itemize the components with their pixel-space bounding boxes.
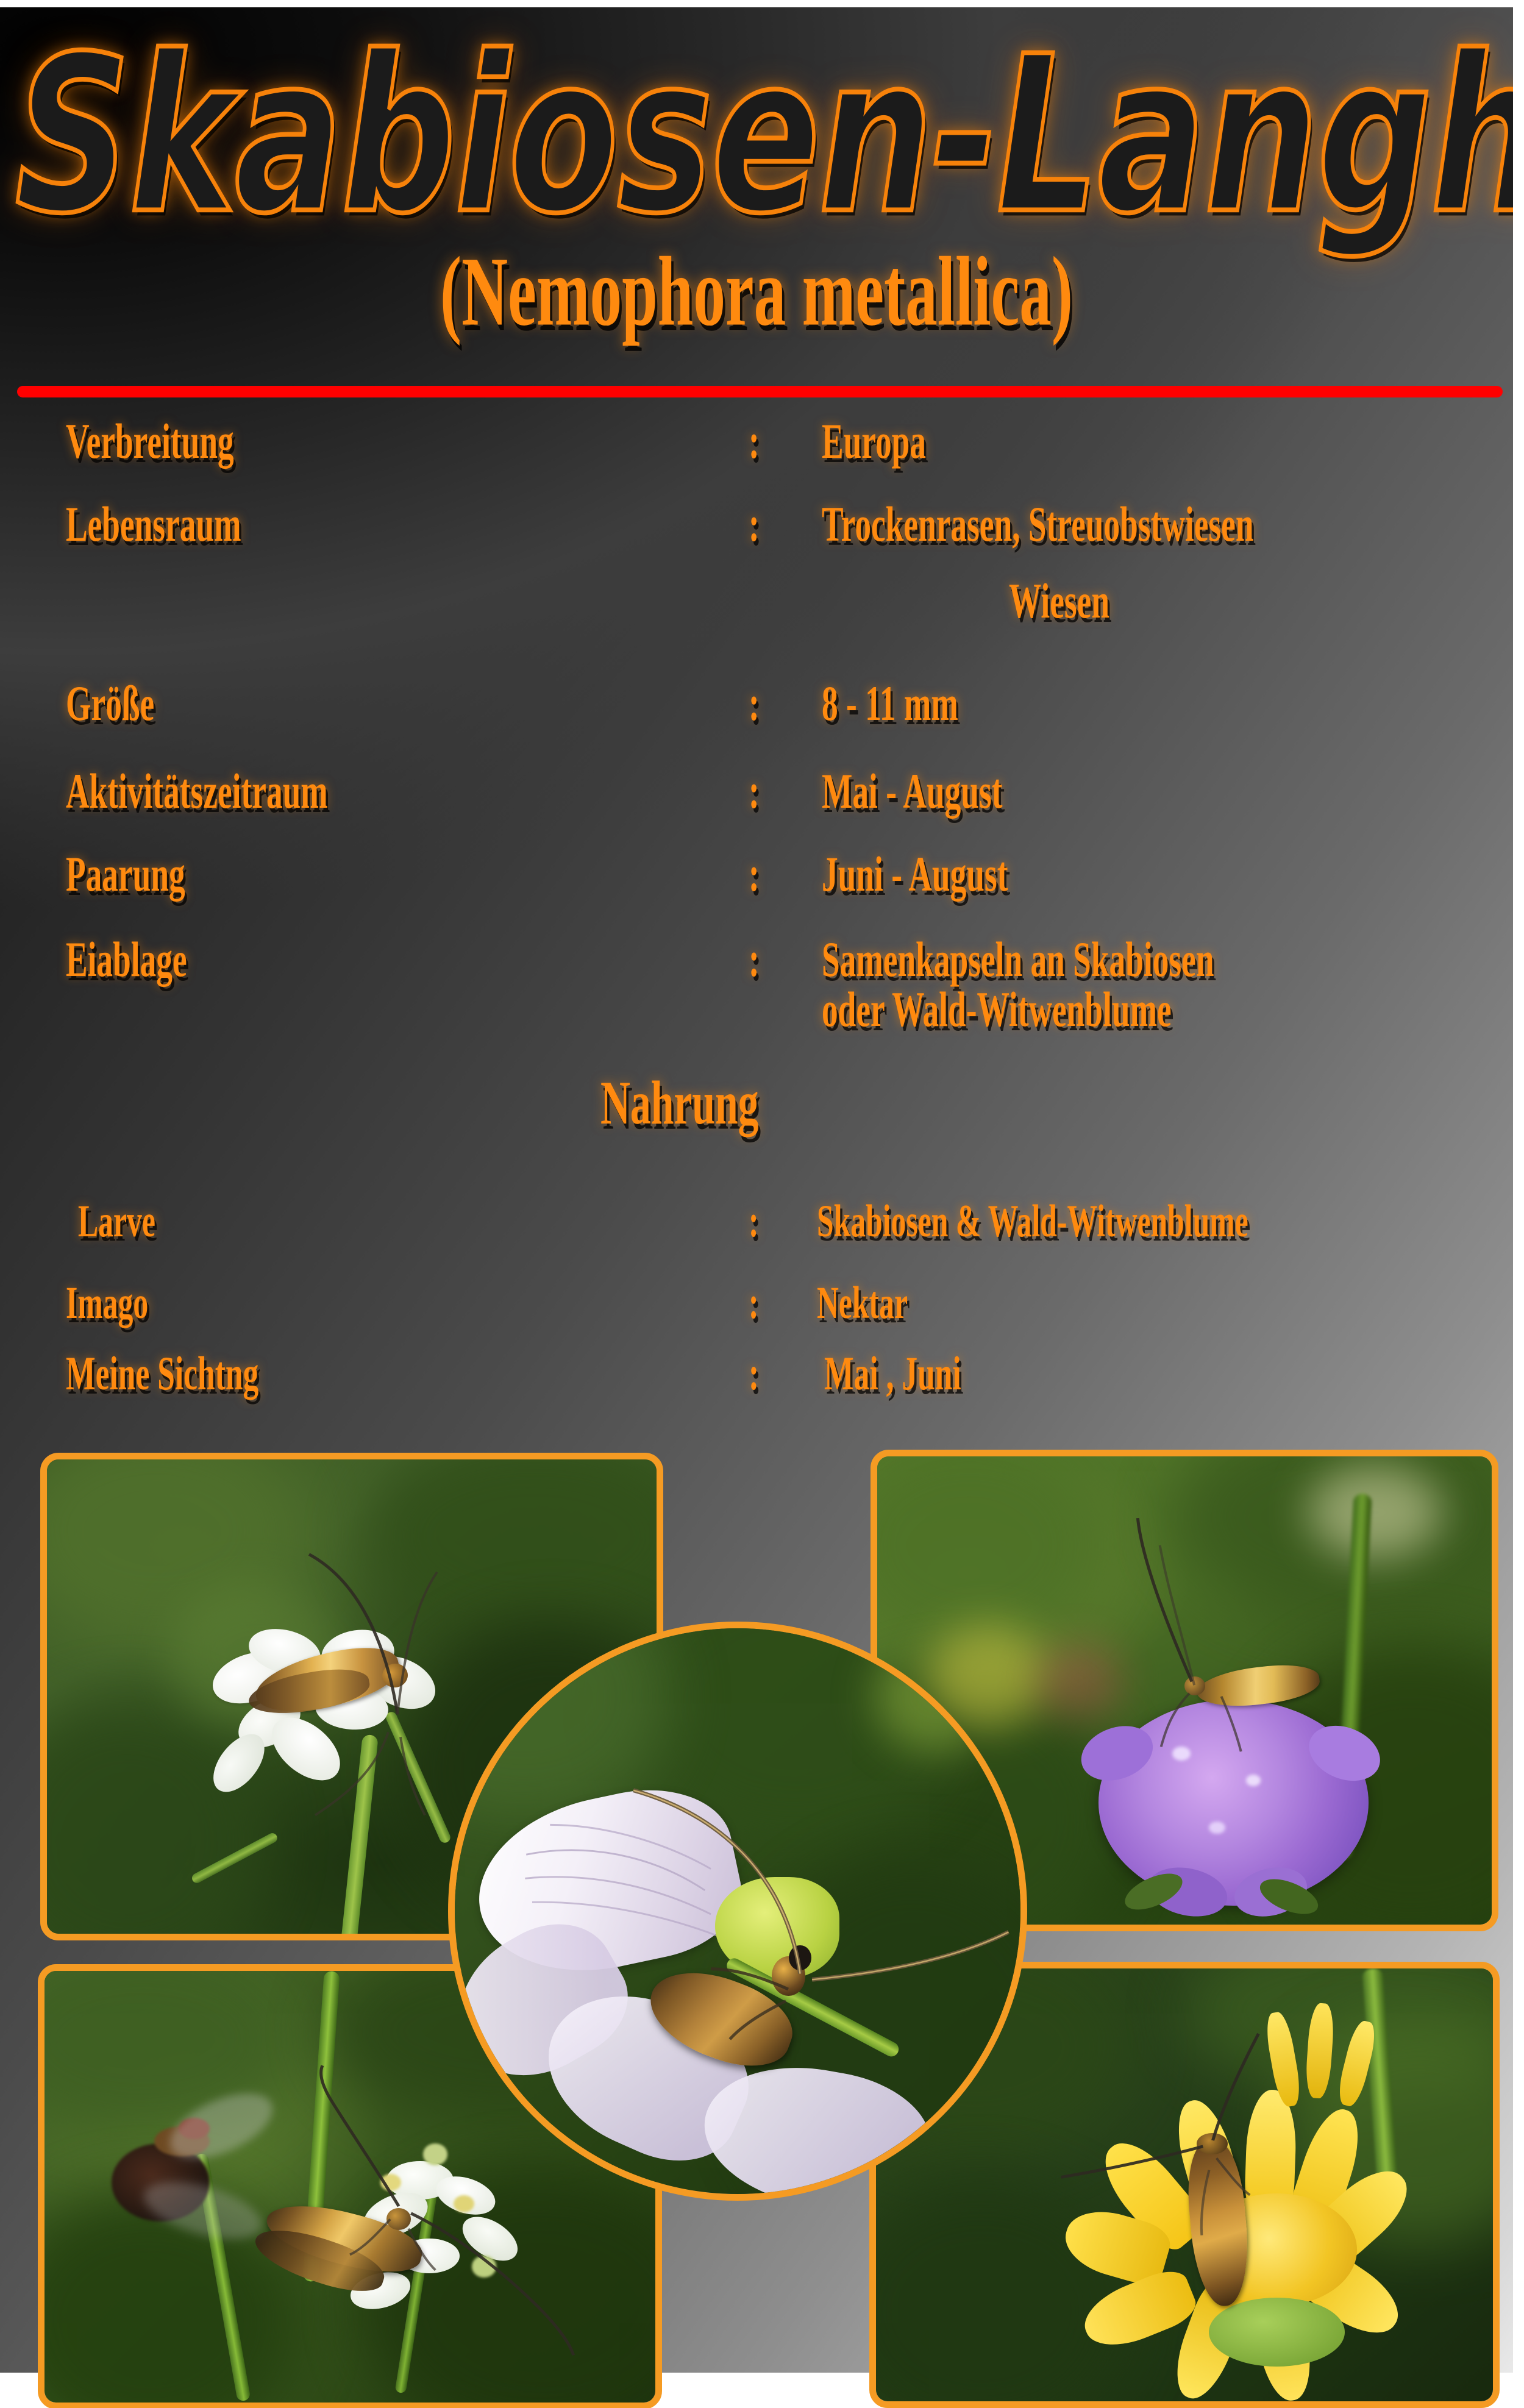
page-trim-right bbox=[1513, 0, 1524, 2408]
nahrung-label-imago: Imago bbox=[66, 1277, 148, 1330]
scientific-name: (Nemophora metallica) bbox=[45, 235, 1467, 349]
nahrung-label-larve: Larve bbox=[78, 1195, 155, 1248]
fact-value-eiablage: Samenkapseln an Skabiosen bbox=[822, 931, 1214, 988]
fact-value-verbreitung: Europa bbox=[822, 413, 926, 470]
fact-label-groesse: Größe bbox=[66, 675, 154, 732]
page-trim-top bbox=[0, 0, 1524, 7]
nahrung-colon-larve: : bbox=[749, 1195, 759, 1248]
nahrung-colon-imago: : bbox=[749, 1277, 759, 1330]
fact-value-lebensraum-line2: Wiesen bbox=[1009, 572, 1109, 630]
nahrung-colon-meine-sichtng: : bbox=[749, 1347, 759, 1402]
antenna-icon bbox=[455, 1628, 1020, 2194]
photo-moth-on-pale-cuckooflower bbox=[448, 1622, 1027, 2201]
fact-value-groesse: 8 - 11 mm bbox=[822, 675, 958, 732]
poster-root: Skabiosen-Langhornmotte (Nemophora metal… bbox=[0, 0, 1524, 2408]
fact-colon-aktivitaetszeitraum: : bbox=[749, 763, 760, 820]
fact-colon-lebensraum: : bbox=[749, 496, 760, 553]
fact-colon-paarung: : bbox=[749, 846, 760, 903]
fact-value-eiablage-line2: oder Wald-Witwenblume bbox=[822, 981, 1172, 1038]
fact-label-paarung: Paarung bbox=[66, 846, 185, 903]
fact-value-aktivitaetszeitraum: Mai - August bbox=[822, 763, 1002, 820]
fact-value-lebensraum: Trockenrasen, Streuobstwiesen bbox=[822, 496, 1254, 553]
nahrung-label-meine-sichtng: Meine Sichtng bbox=[66, 1347, 258, 1402]
section-heading-nahrung: Nahrung bbox=[600, 1067, 759, 1139]
page-title: Skabiosen-Langhornmotte bbox=[15, 28, 1498, 244]
fact-label-lebensraum: Lebensraum bbox=[66, 496, 241, 553]
fact-label-eiablage: Eiablage bbox=[66, 931, 187, 988]
fact-label-aktivitaetszeitraum: Aktivitätszeitraum bbox=[66, 763, 328, 820]
fact-label-verbreitung: Verbreitung bbox=[66, 413, 234, 470]
fact-colon-verbreitung: : bbox=[749, 413, 760, 470]
nahrung-value-imago: Nektar bbox=[817, 1277, 908, 1330]
fact-colon-eiablage: : bbox=[749, 931, 760, 988]
nahrung-value-meine-sichtng: Mai , Juni bbox=[824, 1347, 961, 1402]
nahrung-value-larve: Skabiosen & Wald-Witwenblume bbox=[817, 1195, 1248, 1248]
title-block: Skabiosen-Langhornmotte bbox=[0, 7, 1513, 191]
fact-value-paarung: Juni - August bbox=[822, 846, 1008, 903]
fact-colon-groesse: : bbox=[749, 675, 760, 732]
red-divider bbox=[17, 386, 1503, 397]
